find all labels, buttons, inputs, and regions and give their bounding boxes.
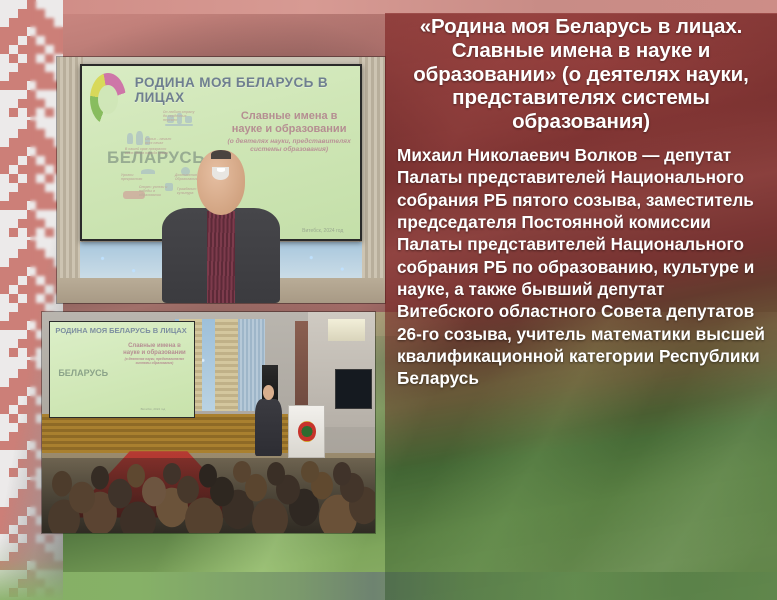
stage-curtain-brown: [295, 321, 308, 409]
speaker-figure-2: [255, 385, 282, 456]
decor-panel-right: [215, 319, 238, 412]
auditorium-wide-view: РОДИНА МОЯ БЕЛАРУСЬ В ЛИЦАХ БЕЛАРУСЬ Сла…: [42, 312, 375, 533]
slide-subtitle: Славные имена в науке и образовании: [232, 110, 347, 135]
photo-auditorium-audience: РОДИНА МОЯ БЕЛАРУСЬ В ЛИЦАХ БЕЛАРУСЬ Сла…: [42, 312, 375, 533]
projection-screen-2: РОДИНА МОЯ БЕЛАРУСЬ В ЛИЦАХ БЕЛАРУСЬ Сла…: [49, 321, 196, 418]
slide-subtitle-2: Славные имена в науке и образовании: [123, 343, 186, 356]
slide-date-2: Витебск, 2024 год: [141, 407, 166, 411]
slide-heading: РОДИНА МОЯ БЕЛАРУСЬ В ЛИЦАХ: [135, 75, 352, 105]
slide-watermark-2: БЕЛАРУСЬ: [58, 368, 108, 378]
slide-bullet-1: Семья – начало всех начал: [145, 137, 175, 145]
auditorium-stage: РОДИНА МОЯ БЕЛАРУСЬ В ЛИЦАХ БЕЛАРУСЬ Он …: [57, 57, 385, 303]
hall-window: [328, 319, 365, 341]
wall-tv-screen: [335, 369, 372, 409]
speaker-head: [197, 150, 244, 214]
photo-speaker-portrait: РОДИНА МОЯ БЕЛАРУСЬ В ЛИЦАХ БЕЛАРУСЬ Он …: [57, 57, 385, 303]
slide-tag-0: Уровни прекрасного: [121, 173, 147, 181]
audience-seating: [42, 458, 375, 533]
speaker-smile: [217, 168, 225, 172]
speaker-shirt: [207, 211, 235, 303]
slide-canvas: РОДИНА МОЯ БЕЛАРУСЬ В ЛИЦАХ БЕЛАРУСЬ Он …: [0, 0, 777, 600]
slide-note-2: (о деятелях науки, представителях систем…: [119, 358, 190, 366]
slide-date: Витебск, 2024 год: [302, 228, 343, 234]
background-top-band: [0, 0, 777, 14]
slide-heading-2: РОДИНА МОЯ БЕЛАРУСЬ В ЛИЦАХ: [55, 327, 189, 336]
text-panel-content: «Родина моя Беларусь в лицах. Славные им…: [385, 13, 777, 390]
slide-body-text: Михаил Николаевич Волков — депутат Палат…: [397, 144, 765, 390]
slide-subtitle-block: Славные имена в науке и образовании (о д…: [227, 110, 352, 154]
speaker-figure: [162, 150, 280, 303]
slide-bullet-0: Он любит страну до сердечных перемен: [163, 110, 197, 122]
speaker-hair: [211, 150, 232, 159]
stage-curtain-right: [359, 57, 385, 303]
audience-heads-icon: [42, 458, 375, 533]
podium-with-coat-of-arms: [288, 405, 325, 458]
slide-title: «Родина моя Беларусь в лицах. Славные им…: [397, 15, 765, 134]
text-panel: «Родина моя Беларусь в лицах. Славные им…: [385, 13, 777, 600]
slide-subtitle-block-2: Славные имена в науке и образовании (о д…: [119, 343, 190, 366]
